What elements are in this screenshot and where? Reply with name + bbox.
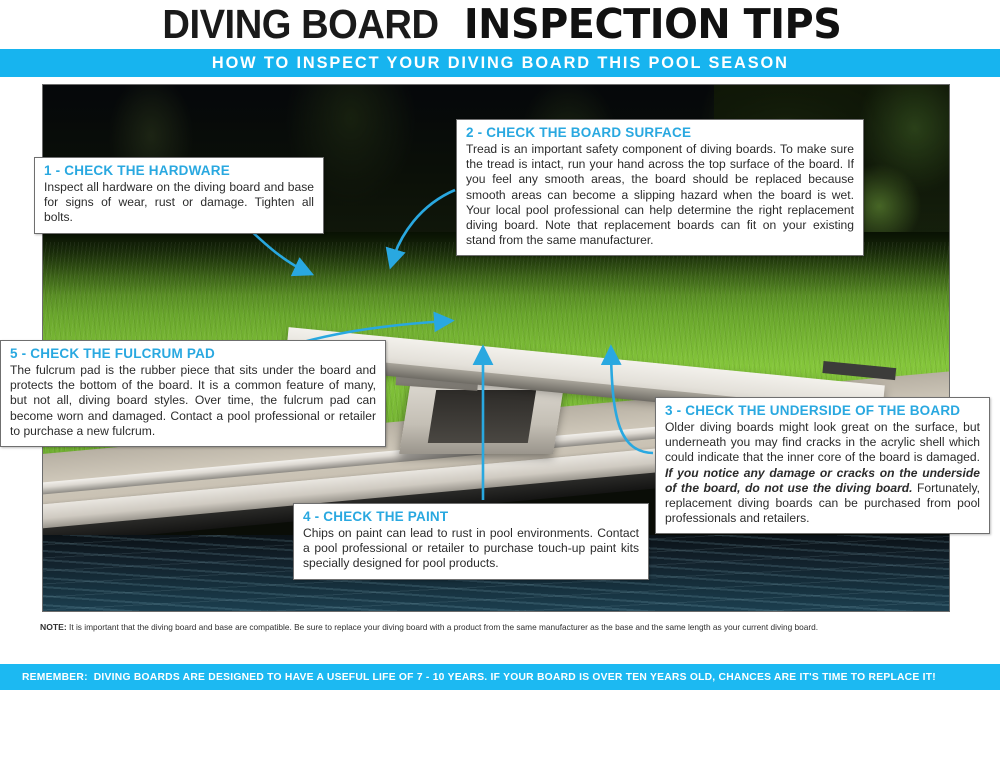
callout-4-paint[interactable]: 4 - CHECK THE PAINT Chips on paint can l… [293,503,649,580]
callout-1-heading: 1 - CHECK THE HARDWARE [44,163,314,178]
photo-stand-shadow [428,390,536,443]
remember-label: REMEMBER: [22,672,88,683]
callout-5-fulcrum-pad[interactable]: 5 - CHECK THE FULCRUM PAD The fulcrum pa… [0,340,386,447]
callout-2-heading: 2 - CHECK THE BOARD SURFACE [466,125,854,140]
note-text: It is important that the diving board an… [67,622,818,632]
remember-text: DIVING BOARDS ARE DESIGNED TO HAVE A USE… [94,672,936,683]
page-footer: S.R. Smith ® QUESTIONS? CALL YOUR LOCAL … [0,690,1000,763]
note-label: NOTE: [40,622,67,632]
infographic-page: DIVING BOARD INSPECTION TIPS HOW TO INSP… [0,0,1000,763]
remember-content: REMEMBER:DIVING BOARDS ARE DESIGNED TO H… [0,672,936,683]
subtitle-text: HOW TO INSPECT YOUR DIVING BOARD THIS PO… [212,54,789,73]
subtitle-banner: HOW TO INSPECT YOUR DIVING BOARD THIS PO… [0,49,1000,77]
remember-banner: REMEMBER:DIVING BOARDS ARE DESIGNED TO H… [0,664,1000,690]
page-title: DIVING BOARD INSPECTION TIPS [0,0,1000,48]
callout-3-body-part1: Older diving boards might look great on … [665,420,980,464]
note-line: NOTE: It is important that the diving bo… [40,622,960,633]
title-light-part: DIVING BOARD [163,1,439,48]
title-bold-part: INSPECTION TIPS [464,0,842,48]
callout-3-body: Older diving boards might look great on … [665,420,980,526]
callout-2-board-surface[interactable]: 2 - CHECK THE BOARD SURFACE Tread is an … [456,119,864,256]
callout-3-heading: 3 - CHECK THE UNDERSIDE OF THE BOARD [665,403,980,418]
callout-4-heading: 4 - CHECK THE PAINT [303,509,639,524]
callout-3-underside[interactable]: 3 - CHECK THE UNDERSIDE OF THE BOARD Old… [655,397,990,534]
callout-5-heading: 5 - CHECK THE FULCRUM PAD [10,346,376,361]
callout-1-body: Inspect all hardware on the diving board… [44,180,314,226]
callout-2-body: Tread is an important safety component o… [466,142,854,248]
callout-4-body: Chips on paint can lead to rust in pool … [303,526,639,572]
callout-1-hardware[interactable]: 1 - CHECK THE HARDWARE Inspect all hardw… [34,157,324,234]
callout-5-body: The fulcrum pad is the rubber piece that… [10,363,376,439]
